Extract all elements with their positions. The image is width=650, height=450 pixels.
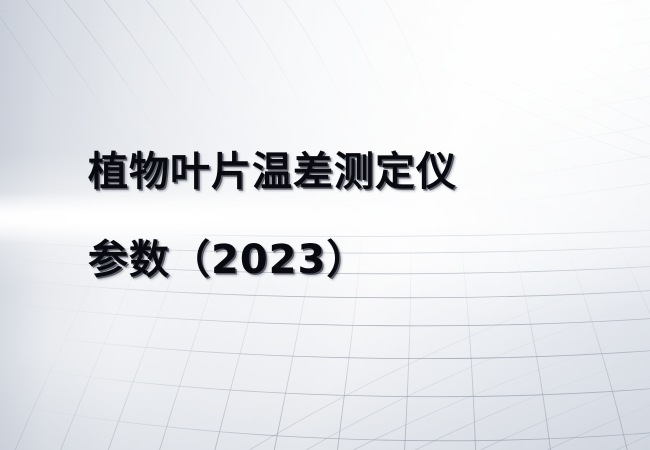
title-banner: 植物叶片温差测定仪 参数（2023）	[0, 0, 650, 450]
page-title: 植物叶片温差测定仪 参数（2023）	[88, 128, 608, 304]
title-line-1: 植物叶片温差测定仪	[88, 128, 608, 216]
title-line-2: 参数（2023）	[88, 216, 608, 304]
